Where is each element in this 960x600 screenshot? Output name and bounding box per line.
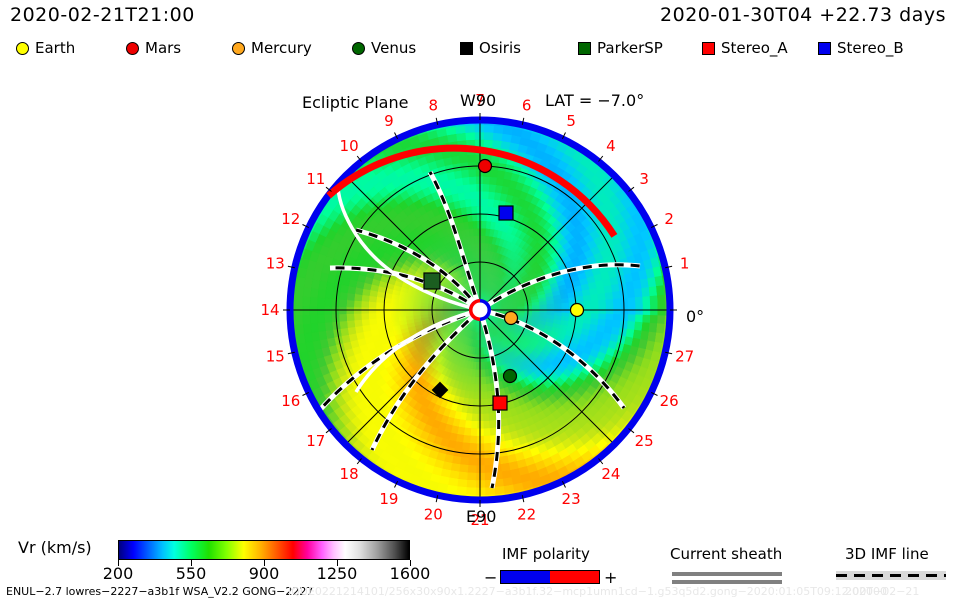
radial-tick-label: 9 <box>384 112 394 130</box>
plot-label-w90: W90 <box>460 91 496 110</box>
venus-marker-icon <box>352 42 365 55</box>
legend-item-osiris: Osiris <box>460 36 521 60</box>
colorbar-label: Vr (km/s) <box>18 538 92 557</box>
radial-tick-label: 12 <box>281 210 300 228</box>
radial-tick-label: 15 <box>266 348 285 366</box>
imf-polarity-title: IMF polarity <box>502 545 590 563</box>
body-marker-mercury[interactable] <box>505 312 518 325</box>
footer-model-string: ENUL−2.7 lowres−2227−a3b1f WSA_V2.2 GONG… <box>6 585 313 598</box>
imf-positive-swatch <box>550 571 599 583</box>
current-sheath-swatch-upper <box>672 572 782 576</box>
mercury-marker-icon <box>232 42 245 55</box>
legend-item-earth: Earth <box>16 36 75 60</box>
legend-label-mars: Mars <box>145 39 181 57</box>
legend-item-parkersp: ParkerSP <box>578 36 663 60</box>
colorbar-tick-label: 550 <box>176 564 207 583</box>
body-marker-parkersp[interactable] <box>424 273 440 289</box>
legend-label-stereo_b: Stereo_B <box>837 39 904 57</box>
current-sheath-swatch-lower <box>672 580 782 584</box>
footer-date-string: 2020−02−21 <box>845 585 919 598</box>
legend-label-venus: Venus <box>371 39 416 57</box>
radial-tick-label: 19 <box>379 490 398 508</box>
radial-tick-label: 23 <box>562 490 581 508</box>
legend-item-stereo_a: Stereo_A <box>702 36 788 60</box>
radial-tick-label: 20 <box>424 506 443 524</box>
earth-marker-icon <box>16 42 29 55</box>
osiris-marker-icon <box>460 42 473 55</box>
radial-tick-label: 5 <box>566 112 576 130</box>
plot-label-e90: E90 <box>466 507 496 526</box>
radial-tick-label: 13 <box>266 254 285 272</box>
radial-tick-label: 18 <box>340 465 359 483</box>
body-marker-stereo_a[interactable] <box>493 396 507 410</box>
body-marker-mars[interactable] <box>479 160 492 173</box>
radial-tick-label: 1 <box>680 254 690 272</box>
imf-negative-swatch <box>501 571 550 583</box>
body-marker-stereo_b[interactable] <box>499 206 513 220</box>
imf-3d-line-swatch-dash <box>836 574 946 577</box>
header-timestamp-right: 2020-01-30T04 +22.73 days <box>660 4 946 26</box>
radial-tick-label: 25 <box>635 432 654 450</box>
radial-tick-label: 26 <box>660 392 679 410</box>
current-sheath-title: Current sheath <box>670 545 782 563</box>
body-marker-earth[interactable] <box>571 304 584 317</box>
plot-label-zero-degrees: 0° <box>686 307 704 326</box>
parkersp-marker-icon <box>578 42 591 55</box>
colorbar-tick-label: 200 <box>103 564 134 583</box>
imf-polarity-swatch <box>500 570 600 584</box>
legend-label-stereo_a: Stereo_A <box>721 39 788 57</box>
radial-tick-label: 2 <box>664 210 674 228</box>
plot-label-latitude: LAT = −7.0° <box>545 91 644 110</box>
mars-marker-icon <box>126 42 139 55</box>
legend-label-osiris: Osiris <box>479 39 521 57</box>
stereo-a-marker-icon <box>702 42 715 55</box>
colorbar-tick-label: 900 <box>249 564 280 583</box>
radial-tick-label: 24 <box>601 465 620 483</box>
colorbar-tick-label: 1250 <box>317 564 358 583</box>
colorbar-gradient <box>118 540 410 560</box>
colorbar-tick-label: 1600 <box>390 564 431 583</box>
legend-item-mercury: Mercury <box>232 36 312 60</box>
radial-tick-label: 14 <box>260 301 279 319</box>
legend-label-earth: Earth <box>35 39 75 57</box>
radial-tick-label: 10 <box>340 137 359 155</box>
radial-tick-label: 8 <box>429 96 439 114</box>
body-legend: EarthMarsMercuryVenusOsirisParkerSPStere… <box>8 36 952 60</box>
ecliptic-plane-plot: 1234567891011121314151617181920212223242… <box>0 60 960 530</box>
radial-tick-label: 6 <box>522 96 532 114</box>
radial-tick-label: 11 <box>306 170 325 188</box>
legend-label-parkersp: ParkerSP <box>597 39 663 57</box>
footer-run-id-string: IQUE0221214101/256x30x90x1.2227−a3b1f.32… <box>288 585 887 598</box>
header-timestamp-left: 2020-02-21T21:00 <box>10 4 195 26</box>
radial-tick-label: 22 <box>517 506 536 524</box>
legend-item-mars: Mars <box>126 36 181 60</box>
stereo-b-marker-icon <box>818 42 831 55</box>
radial-tick-label: 27 <box>675 348 694 366</box>
plot-title-ecliptic-plane: Ecliptic Plane <box>302 93 408 112</box>
radial-tick-label: 17 <box>306 432 325 450</box>
legend-item-stereo_b: Stereo_B <box>818 36 904 60</box>
imf-3d-line-title: 3D IMF line <box>845 545 929 563</box>
legend-item-venus: Venus <box>352 36 416 60</box>
sun-marker <box>469 299 491 321</box>
radial-tick-label: 16 <box>281 392 300 410</box>
radial-tick-label: 4 <box>606 137 616 155</box>
body-marker-venus[interactable] <box>504 370 517 383</box>
radial-tick-label: 3 <box>639 170 649 188</box>
legend-label-mercury: Mercury <box>251 39 312 57</box>
